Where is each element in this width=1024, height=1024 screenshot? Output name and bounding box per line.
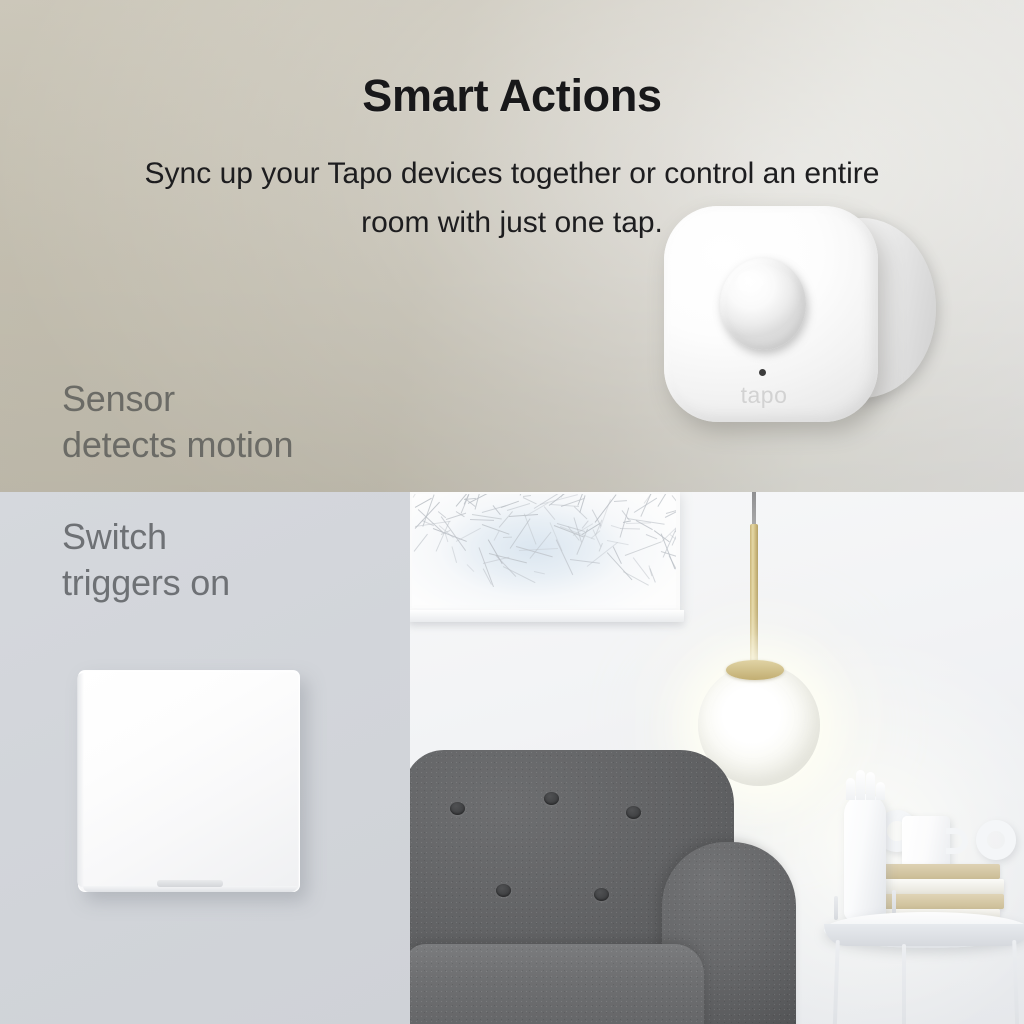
- switch-panel: Switch triggers on: [0, 492, 410, 1024]
- step-caption-switch-line1: Switch: [62, 514, 230, 560]
- page-title: Smart Actions: [0, 70, 1024, 122]
- branch-stroke: [614, 500, 627, 502]
- table-leg: [1012, 940, 1020, 1024]
- branch-stroke: [606, 552, 632, 581]
- branch-stroke: [625, 541, 662, 556]
- branch-stroke: [543, 506, 555, 520]
- branch-stroke: [413, 492, 428, 497]
- branch-stroke: [452, 546, 458, 563]
- led-indicator-icon: [759, 369, 766, 376]
- branch-stroke: [620, 528, 640, 529]
- artwork-canvas: [412, 494, 676, 608]
- branch-stroke: [523, 495, 531, 497]
- pir-lens-icon: [720, 258, 806, 350]
- tapo-logo: tapo: [664, 382, 864, 409]
- branch-stroke: [646, 534, 658, 539]
- tuft-button: [544, 792, 559, 805]
- step-caption-switch: Switch triggers on: [62, 514, 230, 606]
- branch-stroke: [503, 566, 535, 583]
- branch-stroke: [534, 571, 544, 574]
- table-pin: [892, 890, 896, 914]
- switch-notch: [157, 880, 223, 887]
- table-leg: [902, 944, 906, 1024]
- branch-stroke: [611, 525, 621, 529]
- branch-stroke: [483, 557, 509, 564]
- branch-stroke: [467, 564, 475, 572]
- lamp-cord: [752, 492, 756, 526]
- branch-stroke: [503, 537, 512, 538]
- side-table-rim: [824, 924, 1024, 946]
- branch-stroke: [470, 519, 494, 521]
- step-caption-sensor-line2: detects motion: [62, 422, 293, 468]
- table-leg: [832, 940, 840, 1024]
- room-scene: [410, 492, 1024, 1024]
- table-pin: [834, 896, 838, 920]
- smart-wall-switch[interactable]: [78, 670, 300, 892]
- finger: [856, 770, 865, 800]
- promo-image: Smart Actions Sync up your Tapo devices …: [0, 0, 1024, 1024]
- finger: [876, 782, 885, 800]
- finger: [866, 772, 875, 800]
- branch-stroke: [413, 534, 427, 552]
- branch-stroke: [625, 523, 650, 525]
- finger: [846, 778, 855, 800]
- branch-stroke: [596, 520, 604, 536]
- book: [868, 879, 1004, 894]
- tuft-button: [594, 888, 609, 901]
- tuft-button: [626, 806, 641, 819]
- book: [872, 864, 1000, 879]
- step-caption-sensor-line1: Sensor: [62, 376, 293, 422]
- framed-artwork: [410, 492, 680, 612]
- upholstery-texture: [410, 944, 704, 1024]
- hand-sculpture: [844, 794, 886, 920]
- branch-stroke: [488, 553, 526, 563]
- branch-stroke: [658, 492, 669, 507]
- branch-stroke: [482, 524, 509, 534]
- branch-stroke: [494, 531, 500, 541]
- hero-subtitle: Sync up your Tapo devices together or co…: [0, 150, 1024, 247]
- armchair-seat-cushion: [410, 944, 704, 1024]
- tuft-button: [496, 884, 511, 897]
- step-caption-sensor: Sensor detects motion: [62, 376, 293, 468]
- lamp-collar: [726, 660, 784, 680]
- hero-panel: Smart Actions Sync up your Tapo devices …: [0, 0, 1024, 492]
- lamp-stem: [750, 524, 758, 672]
- ceramic-ring: [976, 820, 1016, 860]
- artwork-frame-bottom: [410, 610, 684, 622]
- mug-handle: [946, 828, 968, 854]
- tuft-button: [450, 802, 465, 815]
- step-caption-switch-line2: triggers on: [62, 560, 230, 606]
